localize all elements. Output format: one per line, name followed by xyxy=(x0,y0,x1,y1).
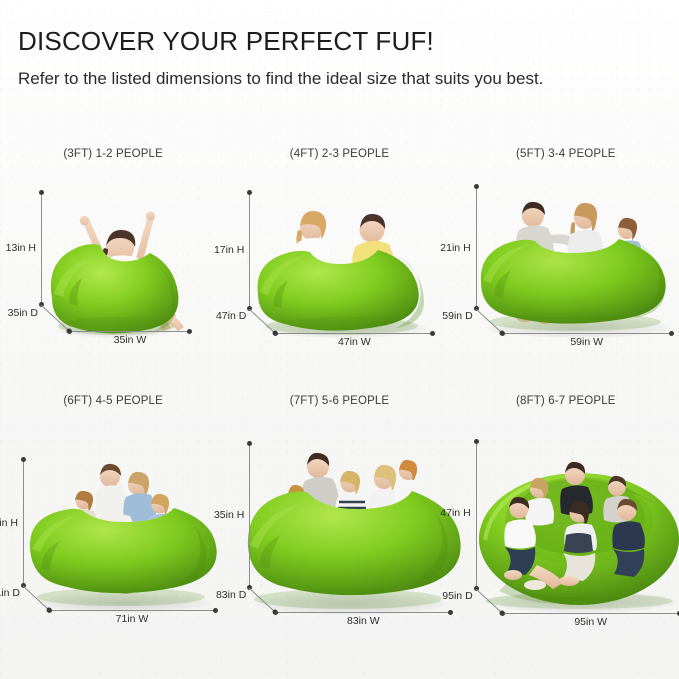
product-card-3ft[interactable]: (3FT) 1-2 PEOPLE xyxy=(0,140,226,387)
product-label-3ft: (3FT) 1-2 PEOPLE xyxy=(0,148,226,160)
height-label-4ft: 17in H xyxy=(210,244,244,256)
beanbag-illustration-6ft xyxy=(26,455,216,607)
width-rule-8ft xyxy=(502,613,679,614)
height-rule-7ft xyxy=(249,443,250,588)
product-label-4ft: (4FT) 2-3 PEOPLE xyxy=(226,148,452,160)
beanbag-illustration-4ft xyxy=(250,186,435,331)
header: DISCOVER YOUR PERFECT FUF! Refer to the … xyxy=(18,28,618,92)
product-label-7ft: (7FT) 5-6 PEOPLE xyxy=(226,395,452,407)
product-label-6ft: (6FT) 4-5 PEOPLE xyxy=(0,395,226,407)
height-rule-3ft xyxy=(41,192,42,305)
width-label-7ft: 83in W xyxy=(347,615,380,627)
height-rule-8ft xyxy=(476,441,477,589)
height-label-5ft: 21in H xyxy=(437,242,471,254)
dimension-diagram-3ft: 13in H 35in D 35in W xyxy=(0,168,226,383)
height-rule-6ft xyxy=(23,459,24,586)
page-title: DISCOVER YOUR PERFECT FUF! xyxy=(18,28,618,55)
width-rule-7ft xyxy=(275,612,451,613)
product-label-5ft: (5FT) 3-4 PEOPLE xyxy=(453,148,679,160)
beanbag-illustration-8ft xyxy=(477,435,679,607)
width-rule-4ft xyxy=(275,333,433,334)
width-label-8ft: 95in W xyxy=(574,616,607,628)
width-label-5ft: 59in W xyxy=(570,336,603,348)
beanbag-illustration-5ft xyxy=(475,180,675,330)
height-label-3ft: 13in H xyxy=(0,242,36,254)
width-rule-3ft xyxy=(69,331,190,332)
product-card-8ft[interactable]: (8FT) 6-7 PEOPLE xyxy=(453,387,679,637)
width-label-4ft: 47in W xyxy=(338,336,371,348)
product-card-6ft[interactable]: (6FT) 4-5 PEOPLE xyxy=(0,387,226,637)
depth-label-4ft: 47in D xyxy=(216,310,246,322)
depth-label-5ft: 59in D xyxy=(442,310,472,322)
depth-label-3ft: 35in D xyxy=(8,307,38,319)
height-rule-4ft xyxy=(249,192,250,309)
width-label-6ft: 71in W xyxy=(116,613,149,625)
dimension-diagram-7ft: 35in H 83in D 83in W xyxy=(226,415,452,633)
beanbag-illustration-7ft xyxy=(244,437,449,609)
width-rule-5ft xyxy=(502,333,672,334)
dimension-diagram-6ft: 26in H 71in D 71in W xyxy=(0,415,226,633)
dimension-diagram-4ft: 17in H 47in D 47in W xyxy=(226,168,452,383)
height-label-7ft: 35in H xyxy=(210,509,244,521)
depth-rule-3ft xyxy=(41,305,71,333)
page-subtitle: Refer to the listed dimensions to find t… xyxy=(18,67,578,92)
product-card-5ft[interactable]: (5FT) 3-4 PEOPLE xyxy=(453,140,679,387)
depth-label-8ft: 95in D xyxy=(442,590,472,602)
dimension-diagram-5ft: 21in H 59in D 59in W xyxy=(453,168,679,383)
depth-label-7ft: 83in D xyxy=(216,589,246,601)
width-label-3ft: 35in W xyxy=(114,334,147,346)
product-card-7ft[interactable]: (7FT) 5-6 PEOPLE xyxy=(226,387,452,637)
depth-label-6ft: 71in D xyxy=(0,587,20,599)
height-rule-5ft xyxy=(476,186,477,309)
dimension-diagram-8ft: 47in H 95in D 95in W xyxy=(453,415,679,633)
height-label-6ft: 26in H xyxy=(0,517,18,529)
width-rule-6ft xyxy=(49,610,216,611)
product-card-4ft[interactable]: (4FT) 2-3 PEOPLE xyxy=(226,140,452,387)
product-label-8ft: (8FT) 6-7 PEOPLE xyxy=(453,395,679,407)
product-size-grid: (3FT) 1-2 PEOPLE xyxy=(0,140,679,637)
height-label-8ft: 47in H xyxy=(437,507,471,519)
